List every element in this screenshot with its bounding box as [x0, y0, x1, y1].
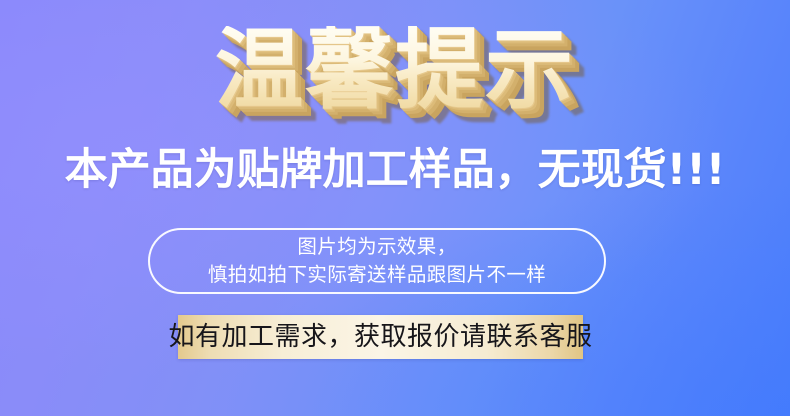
contact-service-label: 如有加工需求，获取报价请联系客服: [169, 324, 593, 350]
disclaimer-box: 图片均为示效果， 慎拍如拍下实际寄送样品跟图片不一样: [148, 228, 606, 294]
page-title: 温馨提示: [215, 26, 575, 114]
promo-poster: 温馨提示 本产品为贴牌加工样品，无现货!!! 图片均为示效果， 慎拍如拍下实际寄…: [0, 0, 790, 416]
title-container: 温馨提示: [0, 26, 790, 114]
contact-service-banner[interactable]: 如有加工需求，获取报价请联系客服: [178, 315, 583, 359]
disclaimer-line-1: 图片均为示效果，: [297, 234, 456, 260]
disclaimer-line-2: 慎拍如拍下实际寄送样品跟图片不一样: [208, 262, 546, 288]
headline-text: 本产品为贴牌加工样品，无现货!!!: [65, 147, 726, 193]
headline-container: 本产品为贴牌加工样品，无现货!!!: [0, 147, 790, 193]
